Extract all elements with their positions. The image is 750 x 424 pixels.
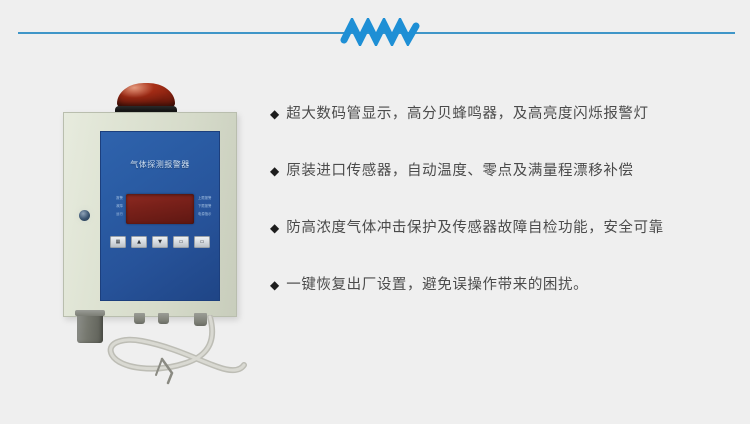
control-panel: 气体探测报警器 报警 故障 运行 上限报警 下限报警 电源指示 [100,131,220,301]
feature-list: ◆ 超大数码管显示，高分贝蜂鸣器，及高亮度闪烁报警灯 ◆ 原装进口传感器，自动温… [270,104,740,332]
enclosure-lock-screw-icon [79,210,90,221]
power-signal-cable [90,315,270,390]
display-area: 报警 故障 运行 上限报警 下限报警 电源指示 [101,194,219,228]
panel-button-up[interactable]: ▲ [131,236,147,248]
device-enclosure: 气体探测报警器 报警 故障 运行 上限报警 下限报警 电源指示 [63,112,237,317]
bullet-diamond-icon: ◆ [270,218,279,238]
panel-button-down[interactable]: ▼ [152,236,168,248]
feature-item: ◆ 防高浓度气体冲击保护及传感器故障自检功能，安全可靠 [270,218,740,275]
feature-item: ◆ 原装进口传感器，自动温度、零点及满量程漂移补偿 [270,161,740,218]
zigzag-ornament-icon [340,18,422,46]
arrow-down-icon: ▼ [158,240,162,245]
grid-icon: ▦ [116,240,121,245]
feature-text: 超大数码管显示，高分贝蜂鸣器，及高亮度闪烁报警灯 [286,104,648,124]
feature-item: ◆ 一键恢复出厂设置，避免误操作带来的困扰。 [270,275,740,332]
bullet-diamond-icon: ◆ [270,104,279,124]
feature-text: 一键恢复出厂设置，避免误操作带来的困扰。 [286,275,588,295]
product-photo: 气体探测报警器 报警 故障 运行 上限报警 下限报警 电源指示 [30,70,270,390]
bullet-diamond-icon: ◆ [270,161,279,181]
panel-title: 气体探测报警器 [101,159,219,170]
indicator-label: 报警 [116,196,123,201]
indicator-label: 故障 [116,204,123,209]
indicator-labels-left: 报警 故障 运行 [106,196,123,217]
bullet-diamond-icon: ◆ [270,275,279,295]
indicator-label: 上限报警 [198,196,212,201]
header-divider [0,0,750,62]
panel-button-confirm[interactable]: ▭ [173,236,189,248]
feature-text: 原装进口传感器，自动温度、零点及满量程漂移补偿 [286,161,633,181]
led-digital-display [126,194,194,224]
confirm-icon: ▭ [179,240,184,245]
feature-item: ◆ 超大数码管显示，高分贝蜂鸣器，及高亮度闪烁报警灯 [270,104,740,161]
panel-button-set[interactable]: ▦ [110,236,126,248]
arrow-up-icon: ▲ [137,240,141,245]
indicator-label: 下限报警 [198,204,212,209]
indicator-labels-right: 上限报警 下限报警 电源指示 [198,196,215,217]
panel-button-row: ▦ ▲ ▼ ▭ ▭ [101,236,219,248]
indicator-label: 电源指示 [198,212,212,217]
gas-alarm-device: 气体探测报警器 报警 故障 运行 上限报警 下限报警 电源指示 [30,70,270,390]
indicator-label: 运行 [116,212,123,217]
panel-button-reset[interactable]: ▭ [194,236,210,248]
reset-icon: ▭ [200,240,205,245]
feature-text: 防高浓度气体冲击保护及传感器故障自检功能，安全可靠 [286,218,664,238]
